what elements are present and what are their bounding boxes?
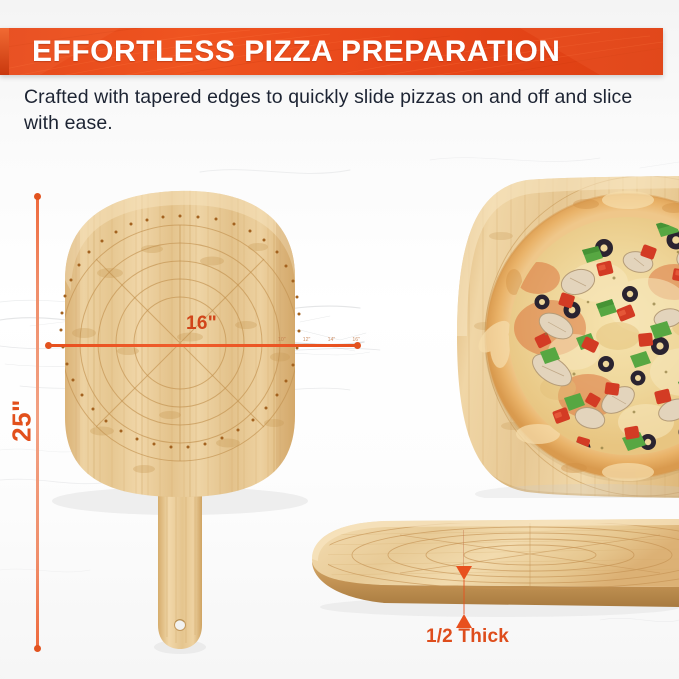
board-thickness-view [300,515,679,625]
infographic-page: EFFORTLESS PIZZA PREPARATION Crafted wit… [0,0,679,679]
banner-left-accent [0,28,9,75]
header-banner: EFFORTLESS PIZZA PREPARATION [0,28,663,75]
ruler-tick-2: 14" [328,337,336,343]
ruler-tick-3: 16" [352,337,360,343]
ruler-tick-0: 10" [278,337,286,343]
thickness-dimension-arrows [452,566,476,628]
width-dimension-line [48,344,358,347]
height-dimension-endpoint-top [34,193,41,200]
width-dimension-endpoint-right [354,342,361,349]
height-dimension-endpoint-bottom [34,645,41,652]
width-dimension-label: 16" [186,313,217,335]
width-dimension-endpoint-left [45,342,52,349]
veggie-pizza [478,186,679,486]
banner-title: EFFORTLESS PIZZA PREPARATION [32,35,560,69]
height-dimension-label: 25" [7,393,38,449]
subtitle-text: Crafted with tapered edges to quickly sl… [24,84,644,136]
thickness-guide-line [463,530,464,570]
thickness-label: 1/2 Thick [380,626,555,648]
ruler-tick-labels: 10" 12" 14" 16" [278,331,360,343]
ruler-tick-1: 12" [303,337,311,343]
